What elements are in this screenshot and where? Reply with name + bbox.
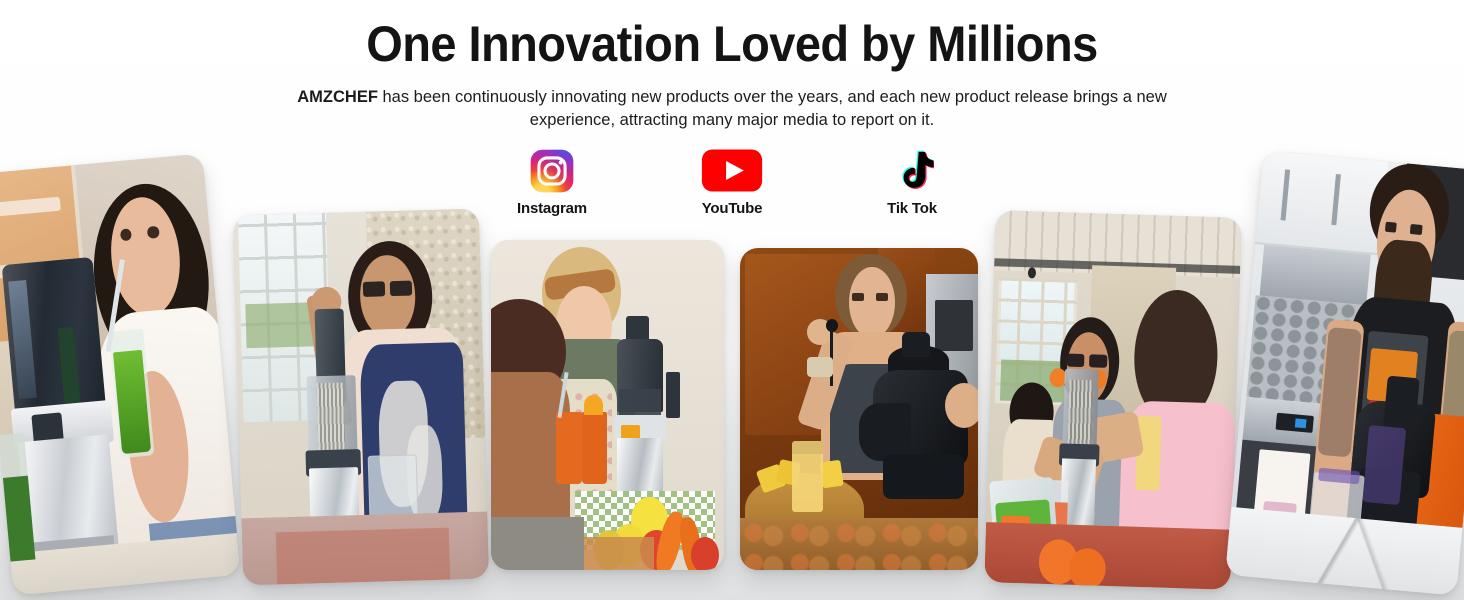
photo-bearded-man-orange-juicer [1225,150,1464,595]
gallery-card[interactable] [984,210,1242,590]
photo-green-juice-kitchen [0,154,241,596]
brand-name: AMZCHEF [297,88,378,106]
instagram-icon[interactable] [530,149,574,193]
promo-banner: One Innovation Loved by Millions AMZCHEF… [0,0,1464,600]
page-title: One Innovation Loved by Millions [44,16,1420,72]
social-link-youtube[interactable]: YouTube [672,149,792,217]
tiktok-icon[interactable] [890,149,934,193]
social-label-youtube: YouTube [702,200,763,217]
gallery-card[interactable] [1225,150,1464,595]
photo-family-oranges-table [984,210,1242,590]
photo-black-juicer-wood-kitchen [740,248,978,570]
banner-subtitle: AMZCHEF has been continuously innovating… [292,86,1172,133]
social-links: Instagram YouTube [0,149,1464,217]
social-link-instagram[interactable]: Instagram [492,149,612,217]
social-label-instagram: Instagram [517,200,587,217]
gallery-card[interactable] [233,209,489,586]
gallery-card[interactable] [740,248,978,570]
gallery-card[interactable] [0,154,241,596]
photo-stainless-juicer-window [233,209,489,586]
gallery-card[interactable] [491,240,724,570]
subtitle-text: has been continuously innovating new pro… [378,88,1167,129]
banner-header: One Innovation Loved by Millions AMZCHEF… [0,0,1464,217]
photo-carrot-juice-fruit [491,240,724,570]
social-link-tiktok[interactable]: Tik Tok [852,149,972,217]
youtube-icon[interactable] [701,149,763,193]
social-label-tiktok: Tik Tok [887,200,937,217]
